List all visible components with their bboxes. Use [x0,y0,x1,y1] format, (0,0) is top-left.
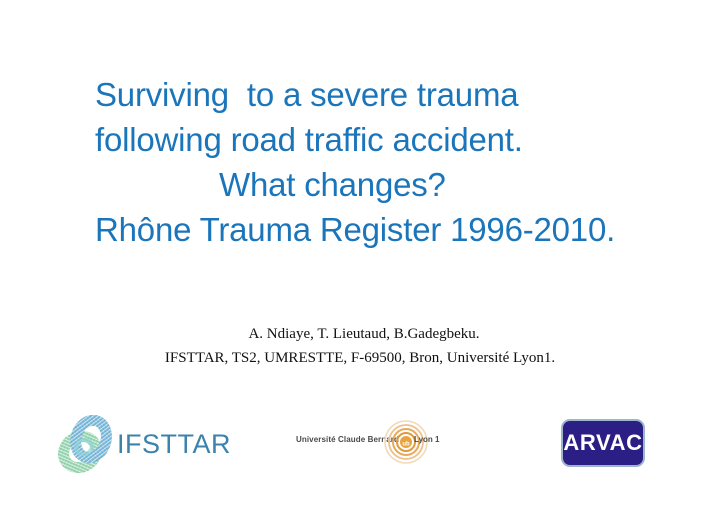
slide-title: Surviving to a severe trauma following r… [95,72,665,252]
authors-names: A. Ndiaye, T. Lieutaud, B.Gadegbeku. [0,322,720,346]
ifsttar-rings-icon [57,415,113,473]
title-line-4: Rhône Trauma Register 1996-2010. [95,207,665,252]
presentation-slide: Surviving to a severe trauma following r… [0,0,720,509]
authors-block: A. Ndiaye, T. Lieutaud, B.Gadegbeku. IFS… [0,322,720,370]
title-line-1: Surviving to a severe trauma [95,72,665,117]
arvac-wordmark: ARVAC [563,432,642,454]
ifsttar-logo: IFSTTAR [57,413,207,475]
arvac-logo: ARVAC [561,419,645,467]
ucbl-text-right: Lyon 1 [414,435,439,444]
ifsttar-wordmark: IFSTTAR [117,431,231,458]
authors-affiliation: IFSTTAR, TS2, UMRESTTE, F-69500, Bron, U… [0,346,720,370]
title-line-3: What changes? [95,162,665,207]
logo-row: IFSTTAR Université Claude Bernard ub Lyo… [0,405,720,490]
svg-text:ub: ub [402,442,410,448]
title-line-2: following road traffic accident. [95,117,665,162]
universite-claude-bernard-lyon1-logo: Université Claude Bernard ub Lyon 1 [296,423,456,469]
